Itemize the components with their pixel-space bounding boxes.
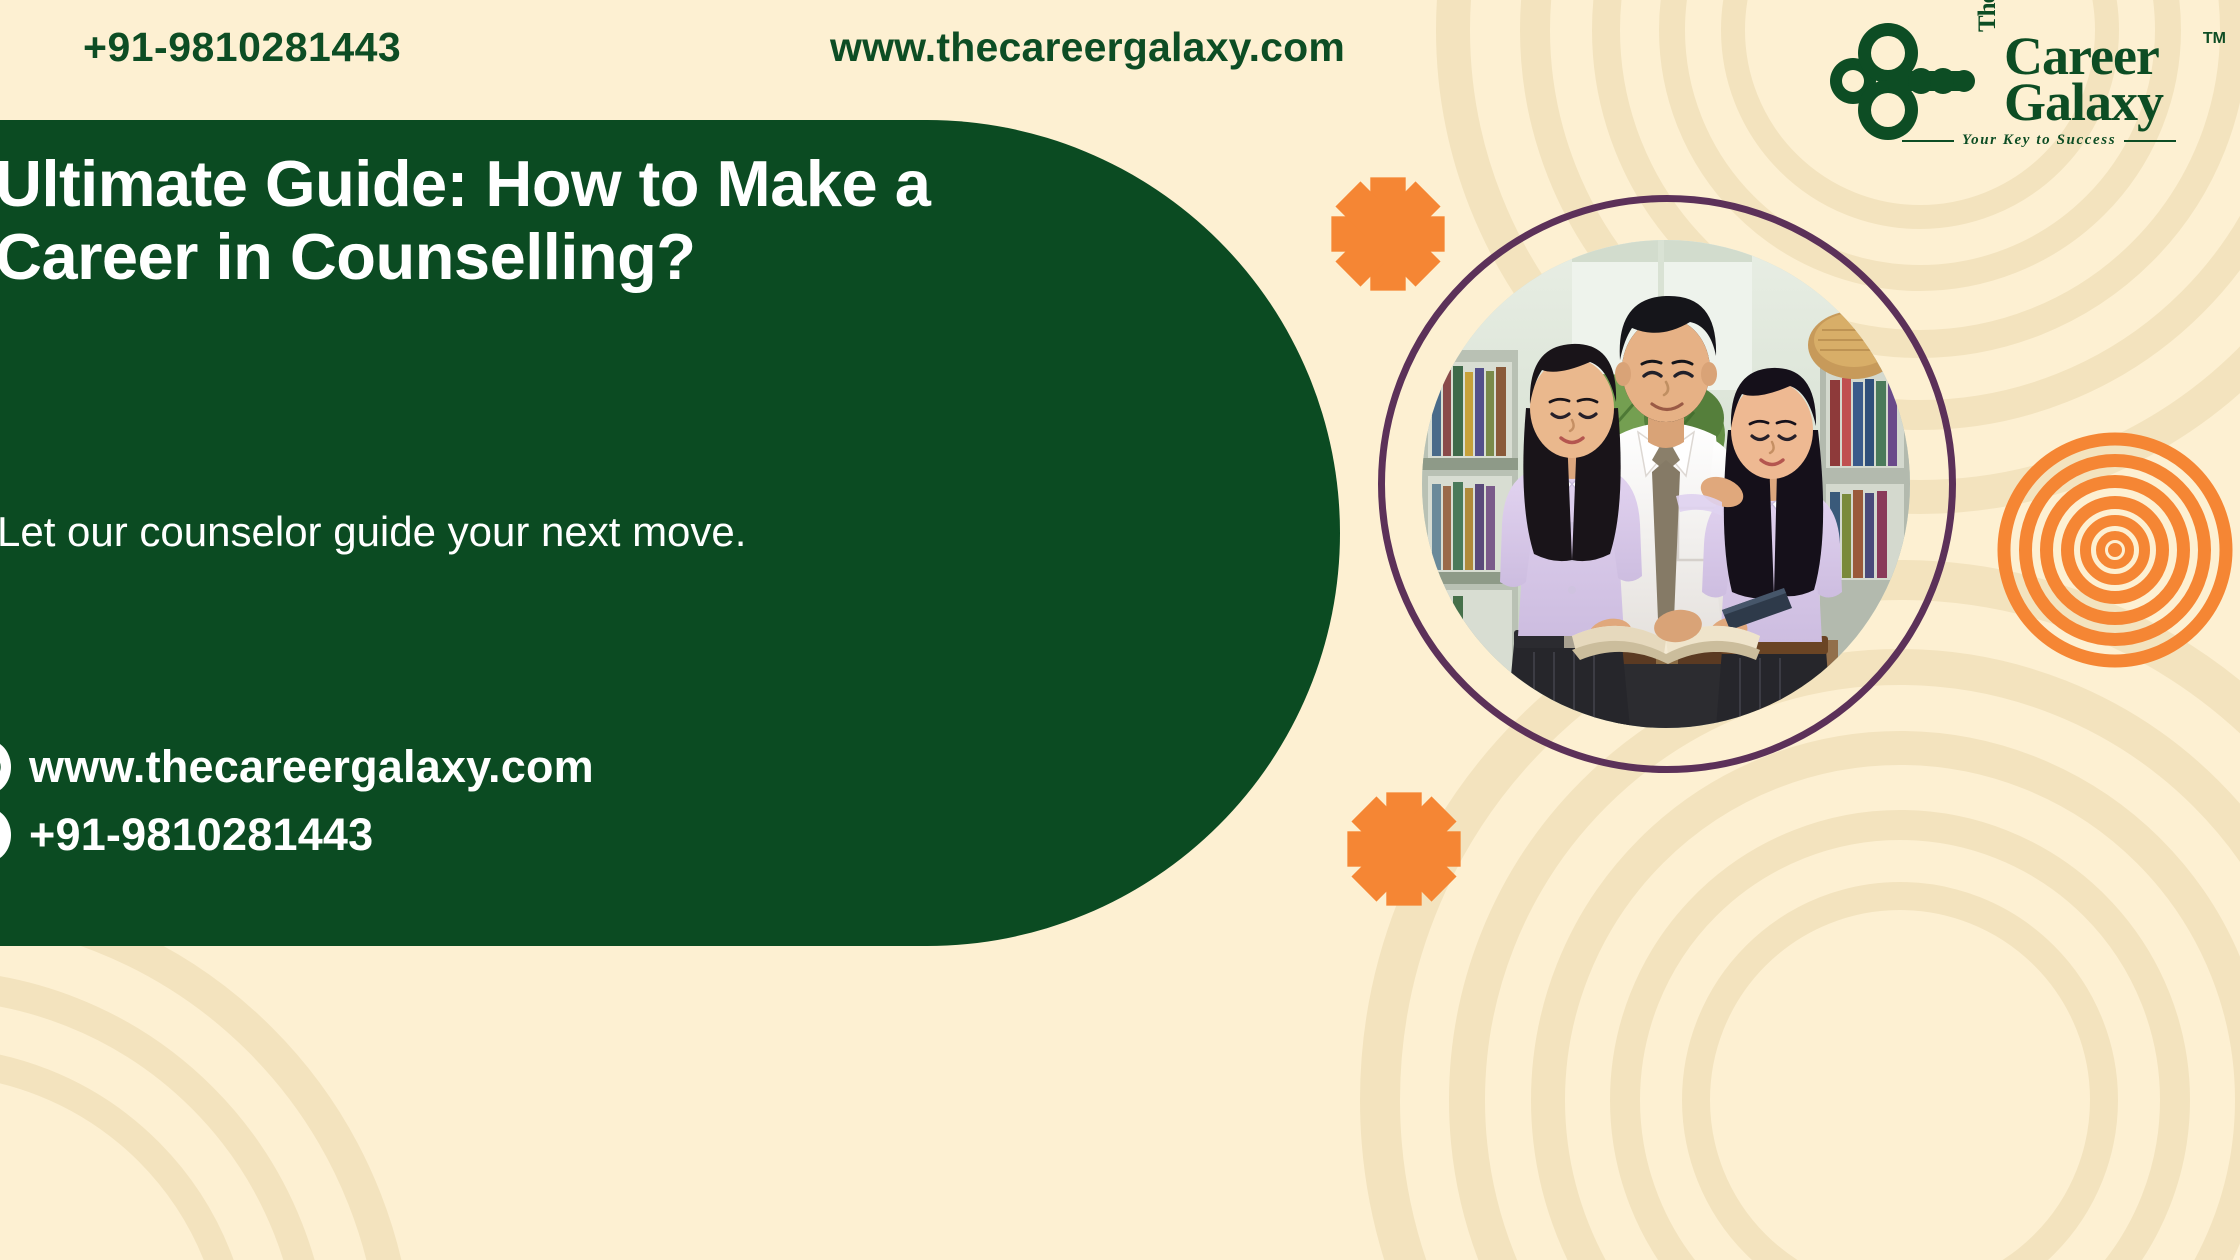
starburst-icon [1345, 790, 1463, 908]
hero-green-panel: Ultimate Guide: How to Make a Career in … [0, 120, 1340, 946]
logo-tagline-text: Your Key to Success [1962, 132, 2116, 149]
starburst-icon [1329, 175, 1447, 293]
page-subtitle: Let our counselor guide your next move. [0, 503, 897, 562]
header-phone-text: +91-9810281443 [83, 24, 401, 71]
logo-tagline-row: Your Key to Success [1902, 132, 2222, 149]
trademark-symbol: TM [2203, 30, 2226, 48]
key-icon [1826, 22, 1976, 140]
tagline-rule-right [2124, 140, 2176, 142]
brand-logo: The Career Galaxy TM Your Key to Success [1826, 8, 2226, 158]
contact-row-phone[interactable]: +91-9810281443 [0, 808, 594, 862]
concentric-rings-decoration [1997, 432, 2232, 667]
rings-center-dot [2108, 543, 2122, 557]
tagline-rule-left [1902, 140, 1954, 142]
logo-word-galaxy: Galaxy [2004, 78, 2163, 128]
background-arcs-bottom-left [0, 920, 380, 1260]
hero-photo [1422, 240, 1910, 728]
page-title: Ultimate Guide: How to Make a Career in … [0, 148, 1055, 294]
contact-phone-text: +91-9810281443 [29, 809, 373, 861]
promotional-banner: +91-9810281443 www.thecareergalaxy.com T… [0, 0, 2240, 1260]
contact-website-text: www.thecareergalaxy.com [29, 741, 594, 793]
contact-block: www.thecareergalaxy.com +91-9810281443 [0, 740, 594, 876]
mobile-phone-icon [0, 808, 11, 862]
logo-word-the: The [1976, 0, 1999, 32]
globe-icon [0, 740, 11, 794]
contact-row-website[interactable]: www.thecareergalaxy.com [0, 740, 594, 794]
header-website-text: www.thecareergalaxy.com [830, 24, 1345, 71]
